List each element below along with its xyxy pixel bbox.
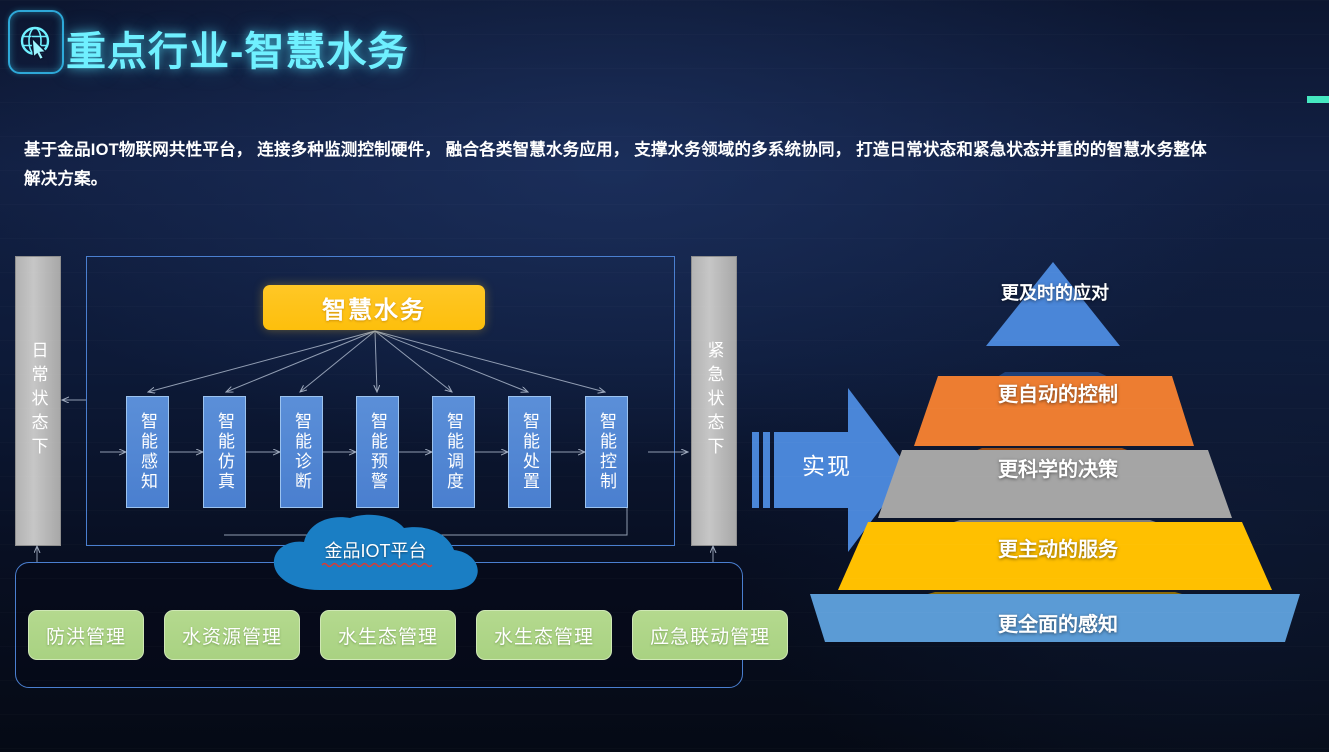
chip-emergency-linkage-management[interactable]: 应急联动管理 [632, 610, 788, 660]
pyramid-layer-3 [878, 450, 1232, 518]
process-box-7[interactable]: 智能控制 [585, 396, 628, 508]
process-box-4[interactable]: 智能预警 [356, 396, 399, 508]
hero-box[interactable]: 智慧水务 [263, 285, 485, 330]
process-box-label: 智能感知 [139, 412, 156, 492]
process-box-6[interactable]: 智能处置 [508, 396, 551, 508]
pyramid-layer-4 [838, 522, 1272, 590]
cloud-label: 金品IOT平台 [268, 537, 483, 563]
chip-row: 防洪管理 水资源管理 水生态管理 水生态管理 应急联动管理 [28, 610, 788, 660]
pyramid-layer-2 [914, 376, 1194, 446]
spellcheck-underline-icon [322, 562, 432, 566]
pyramid-layer-5 [810, 594, 1300, 642]
chip-flood-management[interactable]: 防洪管理 [28, 610, 144, 660]
process-box-label: 智能仿真 [216, 412, 233, 492]
implement-label: 实现 [782, 447, 872, 481]
pyramid-layer-1 [986, 262, 1120, 346]
process-box-label: 智能调度 [445, 412, 462, 492]
process-box-5[interactable]: 智能调度 [432, 396, 475, 508]
process-box-label: 智能诊断 [293, 412, 310, 492]
process-box-3[interactable]: 智能诊断 [280, 396, 323, 508]
chip-water-resource-management[interactable]: 水资源管理 [164, 610, 300, 660]
process-box-label: 智能控制 [598, 412, 615, 492]
process-box-label: 智能处置 [521, 412, 538, 492]
process-box-1[interactable]: 智能感知 [126, 396, 169, 508]
process-box-label: 智能预警 [369, 412, 386, 492]
chip-water-ecology-management-2[interactable]: 水生态管理 [476, 610, 612, 660]
chip-water-ecology-management-1[interactable]: 水生态管理 [320, 610, 456, 660]
process-box-2[interactable]: 智能仿真 [203, 396, 246, 508]
slide-canvas: 重点行业-智慧水务 基于金品IOT物联网共性平台， 连接多种监测控制硬件， 融合… [0, 0, 1329, 752]
